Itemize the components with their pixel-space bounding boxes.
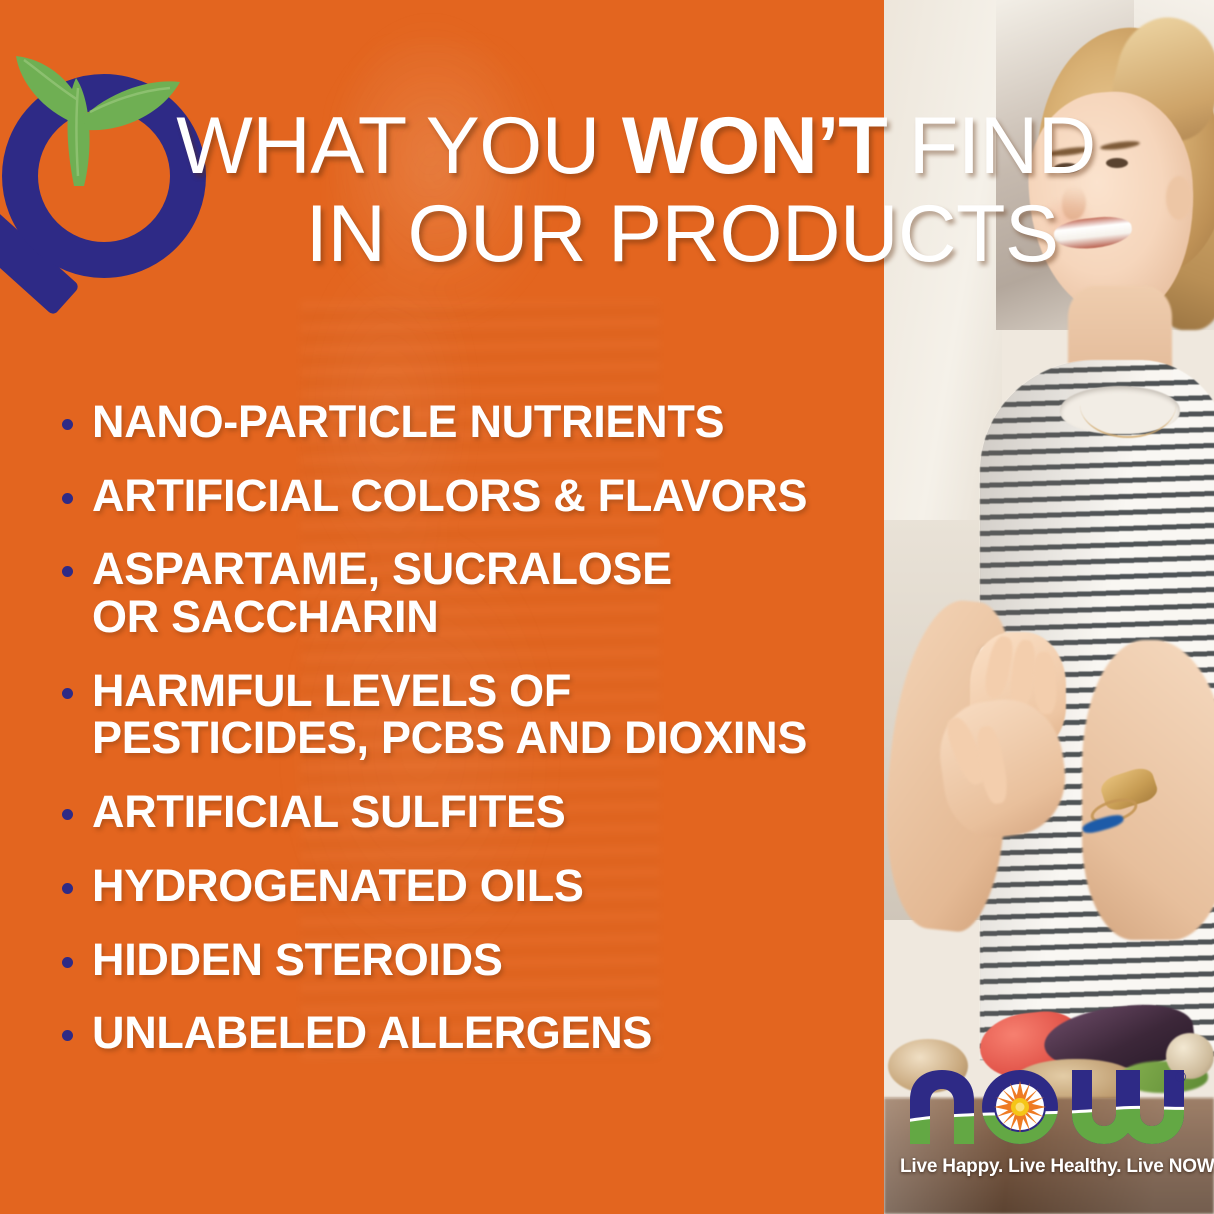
list-item: UNLABELED ALLERGENS: [62, 1009, 882, 1057]
list-item: ASPARTAME, SUCRALOSE OR SACCHARIN: [62, 545, 882, 640]
list-item-label: HARMFUL LEVELS OF PESTICIDES, PCBS AND D…: [92, 667, 807, 762]
bullet-dot-icon: [62, 957, 73, 968]
list-item: HARMFUL LEVELS OF PESTICIDES, PCBS AND D…: [62, 667, 882, 762]
bullet-dot-icon: [62, 883, 73, 894]
list-item: HYDROGENATED OILS: [62, 862, 882, 910]
registered-icon: ®: [1175, 1069, 1186, 1086]
list-item-label: UNLABELED ALLERGENS: [92, 1009, 652, 1057]
brand-tagline: Live Happy. Live Healthy. Live NOW.: [900, 1156, 1190, 1178]
bullet-dot-icon: [62, 566, 73, 577]
eye-left: [1054, 163, 1080, 173]
bullet-dot-icon: [62, 809, 73, 820]
list-item-label: HIDDEN STEROIDS: [92, 936, 503, 984]
ghost-highlight: [330, 40, 570, 340]
list-item: NANO-PARTICLE NUTRIENTS: [62, 398, 882, 446]
magnifier-icon: [0, 26, 254, 326]
list-item-label: ARTIFICIAL SULFITES: [92, 788, 565, 836]
bullet-dot-icon: [62, 419, 73, 430]
bullet-dot-icon: [62, 493, 73, 504]
ear: [1166, 176, 1192, 220]
necklace: [1080, 372, 1176, 438]
list-item-label: ARTIFICIAL COLORS & FLAVORS: [92, 472, 807, 520]
list-item-label: HYDROGENATED OILS: [92, 862, 584, 910]
now-wordmark: ®: [900, 1066, 1190, 1150]
list-item: HIDDEN STEROIDS: [62, 936, 882, 984]
now-brand-logo: ® Live Happy. Live Healthy. Live NOW.: [900, 1066, 1200, 1198]
eye-right: [1106, 158, 1128, 168]
excluded-ingredients-list: NANO-PARTICLE NUTRIENTSARTIFICIAL COLORS…: [62, 398, 882, 1083]
list-item-label: ASPARTAME, SUCRALOSE OR SACCHARIN: [92, 545, 672, 640]
lifestyle-photo: [884, 0, 1214, 1214]
list-item-label: NANO-PARTICLE NUTRIENTS: [92, 398, 724, 446]
bullet-dot-icon: [62, 1030, 73, 1041]
list-item: ARTIFICIAL SULFITES: [62, 788, 882, 836]
list-item: ARTIFICIAL COLORS & FLAVORS: [62, 472, 882, 520]
bullet-dot-icon: [62, 688, 73, 699]
poster-canvas: WHAT YOU WON’T FIND IN OUR PRODUCTS NANO…: [0, 0, 1214, 1214]
